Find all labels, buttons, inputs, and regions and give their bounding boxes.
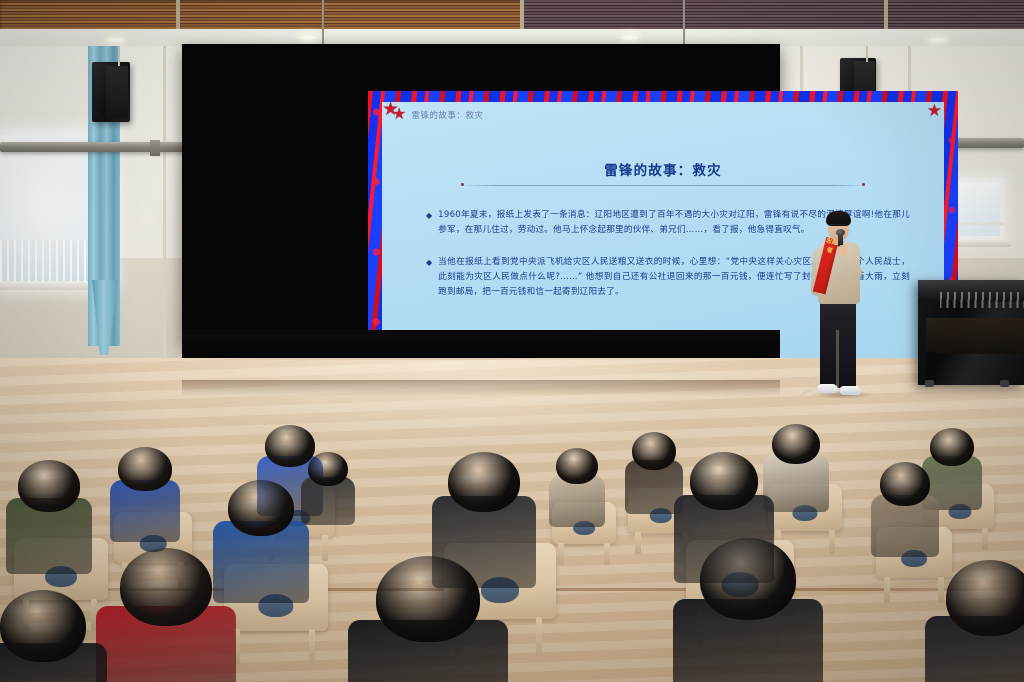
ceiling-dark-slats <box>520 0 1024 30</box>
piano-leg <box>926 352 936 382</box>
downlight <box>108 38 124 42</box>
downlight <box>300 36 316 40</box>
presenter-shoe-right <box>840 386 861 395</box>
divider-dot-right <box>862 183 865 186</box>
chair-leg <box>604 543 610 565</box>
child-head <box>772 424 820 464</box>
chair-leg <box>536 617 542 656</box>
child-head <box>632 432 676 470</box>
child-head <box>448 452 520 512</box>
speaker-grille <box>106 66 128 119</box>
downlight <box>622 36 638 40</box>
ceiling-seam <box>884 0 888 30</box>
speaker-cable <box>866 46 868 62</box>
bullet-marker: ◆ <box>426 255 432 301</box>
activity-hall-photo: ★ 雷锋的故事：救灾 雷锋的故事：救灾 ◆ 1960年夏末，报纸上发表了一条消息… <box>0 0 1024 682</box>
slide-title: 雷锋的故事：救灾 <box>382 159 944 179</box>
led-display-screen[interactable]: ★ 雷锋的故事：救灾 雷锋的故事：救灾 ◆ 1960年夏末，报纸上发表了一条消息… <box>182 44 780 344</box>
child-head <box>118 447 172 491</box>
child-head <box>0 590 86 662</box>
chair-leg <box>884 577 890 603</box>
bullet-marker: ◆ <box>426 208 432 239</box>
child-head <box>265 425 315 467</box>
presenter-shoe-left <box>818 384 838 393</box>
child-head <box>880 462 930 506</box>
wall-seam <box>163 46 166 358</box>
chair-leg <box>309 629 315 663</box>
presenter-hand <box>838 245 847 256</box>
piano-caster <box>1000 380 1009 387</box>
child-head <box>556 448 598 484</box>
divider-dot-left <box>461 183 464 186</box>
slide-content-area: ★ 雷锋的故事：救灾 雷锋的故事：救灾 ◆ 1960年夏末，报纸上发表了一条消息… <box>382 102 944 366</box>
chair-leg <box>635 532 641 555</box>
presenter-leg-gap <box>836 330 839 388</box>
chair-leg <box>982 528 988 551</box>
child-head <box>690 452 758 510</box>
downlight <box>930 38 946 42</box>
title-divider <box>462 185 864 186</box>
slide-header-label: 雷锋的故事：救灾 <box>411 109 483 121</box>
child-head <box>930 428 974 466</box>
ceiling-seam <box>176 0 180 30</box>
slide-header: ★ 雷锋的故事：救灾 <box>392 107 483 123</box>
ceiling-seam <box>520 0 524 30</box>
child-head <box>120 548 212 626</box>
child-head <box>700 538 796 620</box>
child-head <box>376 556 480 642</box>
child-head <box>308 452 348 486</box>
barre-bracket <box>150 140 160 156</box>
chair-leg <box>322 535 328 560</box>
piano-reflection <box>940 292 1024 308</box>
screen-floor-shadow <box>182 380 780 396</box>
ballet-barre-left <box>0 142 196 152</box>
child-head <box>18 460 80 512</box>
star-icon-top-right: ★ <box>927 102 942 119</box>
speaker-cable <box>118 46 120 66</box>
chair-leg <box>558 543 564 565</box>
chair-leg <box>938 577 944 603</box>
piano-lower-panel <box>926 318 1024 354</box>
child-head <box>228 480 294 536</box>
chair-leg <box>829 530 835 554</box>
microphone-icon <box>836 229 845 236</box>
star-icon-top-left: ★ <box>382 100 399 119</box>
left-speaker <box>92 62 130 122</box>
piano-caster <box>925 380 934 387</box>
child-head <box>946 560 1024 636</box>
